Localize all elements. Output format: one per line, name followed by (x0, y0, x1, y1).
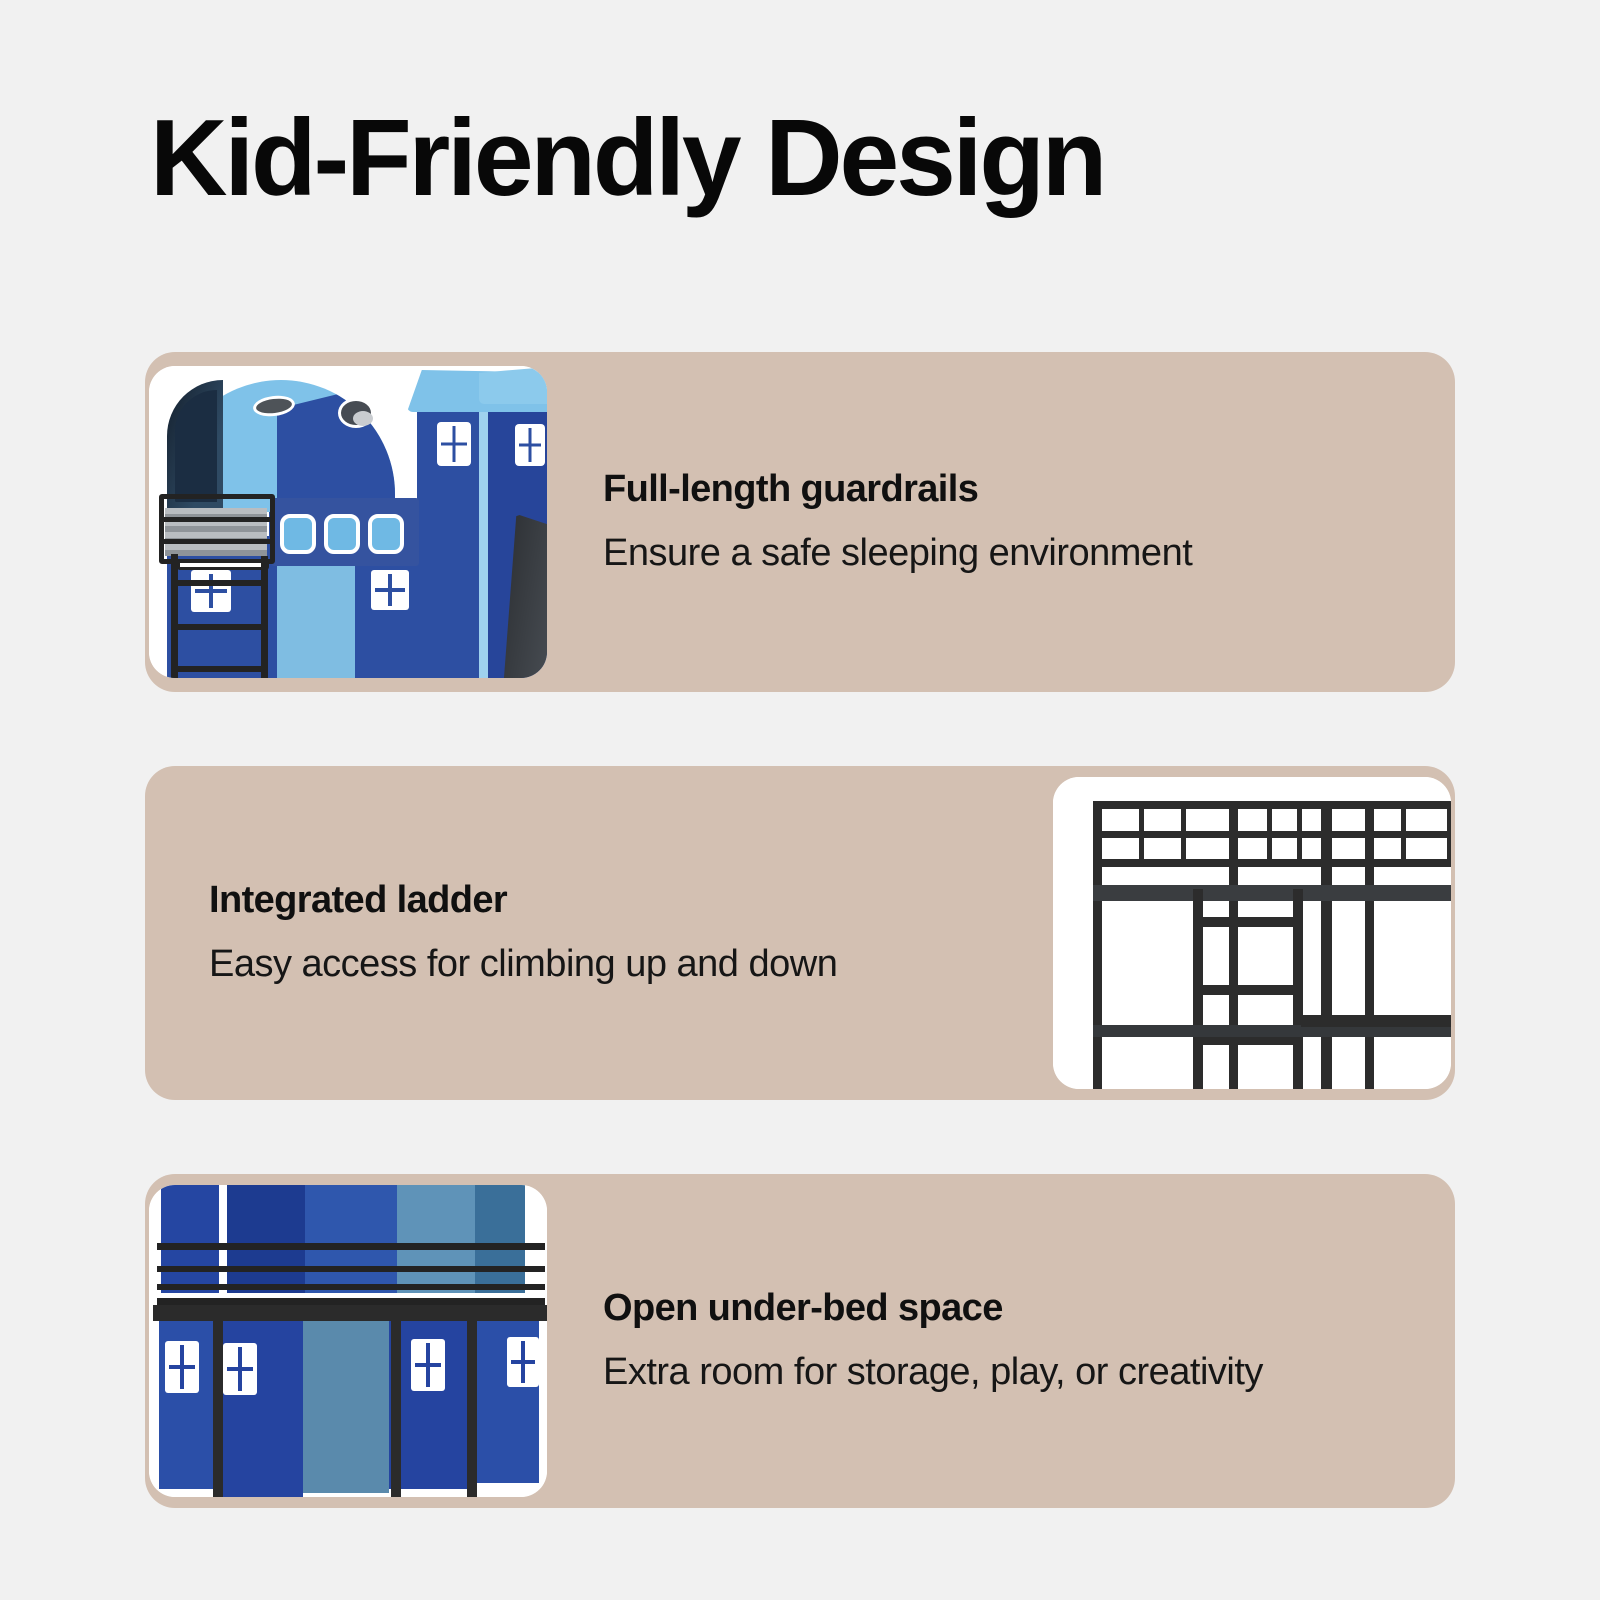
guardrail-picket (1401, 803, 1406, 861)
bed-leg-1 (213, 1321, 223, 1497)
banner-window-2 (324, 514, 360, 554)
guardrail-picket (1447, 803, 1451, 861)
bed-leg-3 (467, 1321, 477, 1497)
curtain-window-2 (223, 1343, 257, 1395)
lower-window-left (191, 570, 231, 612)
frame-post-right (1365, 801, 1374, 1089)
feature-description: Easy access for climbing up and down (209, 939, 919, 989)
ladder-rung-2 (171, 624, 263, 630)
guardrail (157, 1243, 545, 1305)
tower-window-right (515, 424, 545, 466)
guardrail-mid-bar (1093, 831, 1451, 838)
banner-window-3 (368, 514, 404, 554)
curtain-window-1 (165, 1341, 199, 1393)
ladder-rung-1 (1193, 917, 1303, 927)
curtain-window-4 (507, 1337, 539, 1387)
feature-title: Integrated ladder (209, 877, 1013, 923)
feature-image-guardrails (149, 366, 547, 678)
ladder-rung-2 (1193, 985, 1303, 995)
banner-window-1 (280, 514, 316, 554)
bed-frame-beam (153, 1305, 547, 1321)
guardrail-lower-bar (1093, 859, 1451, 867)
frame-post-left (1093, 801, 1102, 1089)
infographic-page: Kid-Friendly Design (0, 0, 1600, 1600)
curtain-window-3 (411, 1339, 445, 1391)
tunnel-opening (167, 380, 223, 512)
guardrail-picket (1297, 803, 1302, 861)
bed-leg-2 (391, 1321, 401, 1497)
loft-bed-curtains-illustration (149, 1185, 547, 1497)
lower-window-right (371, 570, 409, 610)
tower-window (437, 422, 471, 466)
tent-canopy-loft-bed-illustration (149, 366, 547, 678)
bed-deck (1093, 885, 1451, 901)
metal-loft-frame-illustration (1053, 777, 1451, 1089)
guardrail-top-bar (1093, 801, 1451, 809)
guardrail-picket (1139, 803, 1144, 861)
page-title: Kid-Friendly Design (150, 96, 1104, 221)
feature-title: Open under-bed space (603, 1285, 1395, 1331)
ladder-side-left (1193, 889, 1203, 1089)
feature-description: Extra room for storage, play, or creativ… (603, 1347, 1283, 1397)
tunnel-porthole-right (338, 398, 374, 428)
ladder-rung-1 (171, 580, 263, 586)
guardrail-picket (1267, 803, 1272, 861)
ladder-side-right (1293, 889, 1303, 1089)
feature-description: Ensure a safe sleeping environment (603, 528, 1303, 578)
guardrail-picket (1181, 803, 1186, 861)
frame-post-mid (1229, 801, 1238, 1089)
ladder-rail-right (261, 556, 268, 678)
feature-card-under-bed-space: Open under-bed space Extra room for stor… (145, 1174, 1455, 1508)
ladder-rung-3 (171, 666, 263, 672)
ladder-rail-left (171, 554, 178, 678)
feature-card-guardrails: Full-length guardrails Ensure a safe sle… (145, 352, 1455, 692)
frame-post-center (1321, 801, 1332, 1089)
feature-card-ladder: Integrated ladder Easy access for climbi… (145, 766, 1455, 1100)
feature-text-under-bed-space: Open under-bed space Extra room for stor… (547, 1285, 1455, 1398)
lower-frame-rail-right (1301, 1015, 1451, 1027)
feature-image-under-bed-space (149, 1185, 547, 1497)
feature-text-ladder: Integrated ladder Easy access for climbi… (145, 877, 1053, 990)
feature-text-guardrails: Full-length guardrails Ensure a safe sle… (547, 466, 1455, 579)
side-shelf (177, 560, 269, 570)
feature-title: Full-length guardrails (603, 466, 1395, 512)
curtain-panel-light (277, 566, 355, 678)
tower-fold (479, 402, 488, 678)
feature-image-ladder (1053, 777, 1451, 1089)
curtain-panel-3 (303, 1321, 389, 1493)
